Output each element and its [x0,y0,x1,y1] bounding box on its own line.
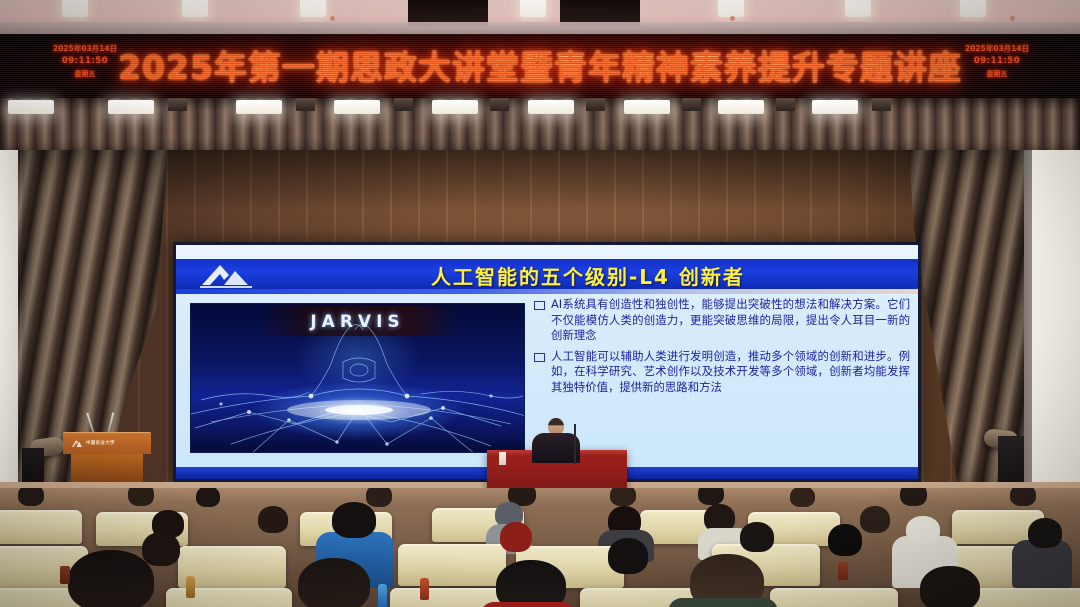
ceiling-light [520,0,546,17]
right-wall-pillar [1032,150,1080,495]
stage-light [624,100,670,114]
stage-light [718,100,764,114]
led-weekday-right: 星期五 [960,68,1034,81]
led-banner: 2025年03月14日 09:11:50 星期五 2025年第一期思政大讲堂暨青… [0,34,1080,98]
list-item: AI系统具有创造性和独创性，能够提出突破性的想法和解决方案。它们不仅能模仿人类的… [534,297,910,344]
audience-head [500,522,532,552]
bullet-text: AI系统具有创造性和独创性，能够提出突破性的想法和解决方案。它们不仅能模仿人类的… [551,297,910,344]
audience-head [740,522,774,552]
ceiling-light [845,0,871,17]
presenter-body [532,433,580,463]
stage-light [8,100,54,114]
audience-head [828,524,862,556]
audience-head [790,488,815,507]
ceiling-light [300,0,326,17]
ceiling-light [62,0,88,17]
stage-light-housing [168,98,187,111]
list-item: 人工智能可以辅助人类进行发明创造，推动多个领域的创新和进步。例如，在科学研究、艺… [534,349,910,396]
presenter-person [528,418,584,460]
microphone-stand [574,424,576,464]
stage-light-housing [682,98,701,111]
led-banner-right-clock: 2025年03月14日 09:11:50 星期五 [960,42,1034,81]
mountain-peak-logo [198,260,256,288]
audience-head [860,506,890,533]
stage-light [108,100,154,114]
audience-head [906,516,940,544]
seat [770,588,898,607]
stage-light-housing [296,98,315,111]
audience-head [196,488,220,507]
water-cup [499,452,506,465]
jarvis-ai-image: JARVIS [190,303,525,453]
stage-light [812,100,858,114]
audience-head [298,558,370,607]
water-bottle [186,576,195,598]
audience-seating [0,488,1080,607]
stage-light-housing [394,98,413,111]
water-bottle [378,584,387,607]
seat-armrest [838,562,848,580]
led-date-right: 2025年03月14日 [960,42,1034,55]
audience-head [608,538,648,574]
audience-head [128,488,154,506]
bullet-square-icon [534,301,545,310]
seat-armrest [60,566,70,584]
audience-head [1010,488,1036,506]
ceiling-light [182,0,208,17]
audience-head [698,488,724,505]
led-banner-title: 2025年第一期思政大讲堂暨青年精神素养提升专题讲座 [0,41,1080,89]
audience-head [920,566,980,607]
stage-light [432,100,478,114]
audience-head [1028,518,1062,548]
stage-light-housing [776,98,795,111]
audience-body [480,602,576,607]
audience-body [668,598,778,607]
audience-head [610,488,636,506]
ceiling-light [718,0,744,17]
audience-head [332,502,376,538]
stage-light-housing [586,98,605,111]
seat [398,544,506,586]
stage-light-housing [872,98,891,111]
audience-head [258,506,288,533]
lecture-hall-photo: 2025年03月14日 09:11:50 星期五 2025年第一期思政大讲堂暨青… [0,0,1080,607]
led-time-right: 09:11:50 [960,55,1034,68]
water-bottle [420,578,429,600]
bullet-text: 人工智能可以辅助人类进行发明创造，推动多个领域的创新和进步。例如，在科学研究、艺… [551,349,910,396]
slide-bullet-list: AI系统具有创造性和独创性，能够提出突破性的想法和解决方案。它们不仅能模仿人类的… [534,297,910,401]
seat [166,588,292,607]
slide-title: 人工智能的五个级别-L4 创新者 [431,261,745,290]
audience-head [18,488,44,506]
seat [0,510,82,544]
ceiling-light [960,0,986,17]
podium-plaque: 中国农业大学 [71,437,143,449]
audience-head [142,532,180,566]
audience-head [366,488,392,507]
stage-light-housing [490,98,509,111]
stage-light [236,100,282,114]
audience-head [900,488,927,506]
audience-head [68,550,154,607]
mountain-peak-logo [71,438,83,448]
bullet-square-icon [534,353,545,362]
stage-light [528,100,574,114]
podium-plaque-text: 中国农业大学 [86,440,115,446]
jarvis-caption: JARVIS [191,312,524,332]
ceiling [0,0,1080,34]
stage-light [334,100,380,114]
audience-head [496,560,566,607]
